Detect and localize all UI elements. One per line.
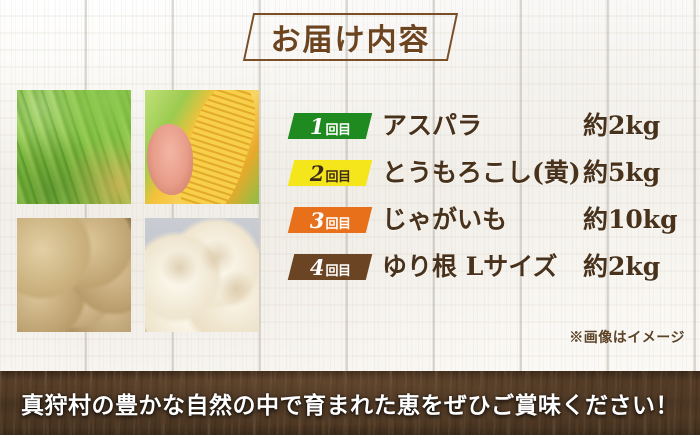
corn-photo — [145, 90, 259, 204]
potato-photo — [17, 218, 131, 332]
delivery-badge-2: 2 回目 — [288, 160, 372, 186]
badge-number: 1 — [310, 115, 325, 136]
title-text: お届け内容 — [248, 13, 453, 61]
item-name: とうもろこし(黄) — [369, 160, 583, 185]
product-photo-grid — [17, 90, 259, 332]
delivery-badge-label: 2 回目 — [310, 162, 351, 183]
badge-unit: 回目 — [325, 123, 350, 136]
product-contents-banner: お届け内容 1 回目 アスパラ 約2kg 2 回目 — [0, 0, 700, 435]
delivery-row: 3 回目 じゃがいも 約10kg — [291, 196, 686, 243]
badge-number: 4 — [310, 256, 325, 277]
item-quantity: 約5kg — [583, 160, 686, 185]
badge-number: 3 — [310, 209, 325, 230]
item-quantity: 約10kg — [583, 207, 686, 232]
delivery-row: 4 回目 ゆり根 Lサイズ 約2kg — [291, 243, 686, 290]
image-disclaimer: ※画像はイメージ — [569, 327, 685, 347]
lily-bulb-photo — [145, 218, 259, 332]
delivery-row: 1 回目 アスパラ 約2kg — [291, 102, 686, 149]
delivery-badge-label: 1 回目 — [310, 115, 351, 136]
item-name: アスパラ — [369, 113, 583, 138]
delivery-badge-label: 3 回目 — [310, 209, 351, 230]
badge-unit: 回目 — [325, 264, 350, 277]
delivery-row: 2 回目 とうもろこし(黄) 約5kg — [291, 149, 686, 196]
badge-unit: 回目 — [325, 217, 350, 230]
delivery-badge-4: 4 回目 — [288, 254, 372, 280]
footer-message: 真狩村の豊かな自然の中で育まれた恵をぜひご賞味ください！ — [21, 386, 679, 420]
badge-number: 2 — [310, 162, 325, 183]
delivery-schedule-list: 1 回目 アスパラ 約2kg 2 回目 とうもろこし(黄) 約5kg 3 回目 — [291, 102, 686, 290]
delivery-badge-3: 3 回目 — [288, 207, 372, 233]
item-quantity: 約2kg — [583, 113, 686, 138]
asparagus-photo — [17, 90, 131, 204]
delivery-badge-1: 1 回目 — [288, 113, 372, 139]
page-title: お届け内容 — [248, 13, 453, 61]
item-name: ゆり根 Lサイズ — [369, 254, 583, 279]
badge-unit: 回目 — [325, 170, 350, 183]
item-quantity: 約2kg — [583, 254, 686, 279]
item-name: じゃがいも — [369, 207, 583, 232]
footer-banner: 真狩村の豊かな自然の中で育まれた恵をぜひご賞味ください！ — [0, 371, 700, 435]
delivery-badge-label: 4 回目 — [310, 256, 351, 277]
